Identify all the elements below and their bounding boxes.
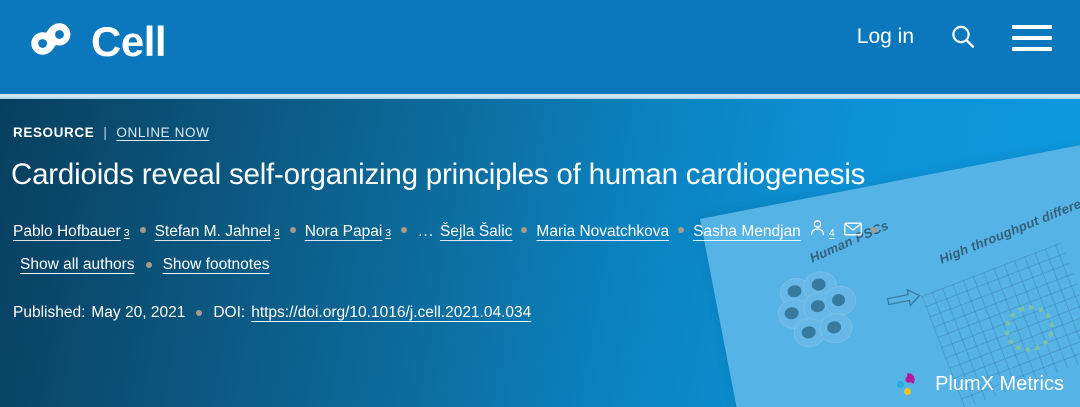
toggle-separator-dot: [146, 262, 152, 268]
author-separator-dot: [290, 227, 296, 233]
doi-label: DOI:: [213, 304, 245, 322]
author-affiliation-marker[interactable]: 3: [124, 226, 130, 242]
doi-link[interactable]: https://doi.org/10.1016/j.cell.2021.04.0…: [251, 304, 531, 322]
publication-info: Published: May 20, 2021 DOI: https://doi…: [13, 304, 531, 322]
hamburger-bar: [1012, 47, 1052, 51]
cell-loop-logo-icon: [28, 18, 78, 68]
plumx-flower-icon: [895, 370, 923, 398]
author-separator-dot: [871, 227, 877, 233]
show-all-authors-link[interactable]: Show all authors: [20, 256, 135, 274]
author-separator-dot: [521, 227, 527, 233]
published-label: Published:: [13, 304, 85, 322]
article-hero-page: Cell Log in Human PSCs High throughput d…: [0, 0, 1080, 407]
header-actions: Log in: [857, 22, 1052, 52]
envelope-icon[interactable]: [844, 222, 862, 236]
article-status-link[interactable]: ONLINE NOW: [116, 125, 209, 140]
author-link[interactable]: Pablo Hofbauer: [13, 220, 121, 243]
publication-separator-dot: [196, 310, 202, 316]
hamburger-menu-icon[interactable]: [1012, 23, 1052, 51]
kicker-divider: |: [103, 125, 107, 140]
author-separator-dot: [678, 227, 684, 233]
hamburger-bar: [1012, 36, 1052, 40]
author-link[interactable]: Šejla Šalic: [440, 220, 512, 243]
authors-ellipsis: ...: [418, 220, 434, 243]
author-link[interactable]: Sasha Mendjan: [693, 220, 801, 243]
cell-logo-link[interactable]: Cell: [28, 18, 166, 68]
search-icon[interactable]: [948, 22, 978, 52]
author-list: Pablo Hofbauer 3 Stefan M. Jahnel 3 Nora…: [13, 219, 973, 243]
author-affiliation-marker[interactable]: 3: [274, 226, 280, 242]
plumx-metrics-badge[interactable]: PlumX Metrics: [895, 370, 1064, 398]
show-footnotes-link[interactable]: Show footnotes: [163, 256, 270, 274]
author-separator-dot: [140, 227, 146, 233]
plumx-metrics-label: PlumX Metrics: [935, 373, 1064, 396]
author-separator-dot: [401, 227, 407, 233]
ga-arrow-icon: [886, 286, 923, 310]
author-link[interactable]: Maria Novatchkova: [536, 220, 669, 243]
corresponding-author-marker[interactable]: 4: [829, 226, 835, 242]
header-divider: [0, 94, 1080, 99]
person-icon[interactable]: [809, 219, 826, 236]
page-title: Cardioids reveal self-organizing princip…: [11, 157, 931, 192]
article-type-label: RESOURCE: [13, 125, 94, 140]
ga-cell-cluster-icon: [771, 265, 868, 354]
login-link[interactable]: Log in: [857, 25, 914, 49]
hamburger-bar: [1012, 25, 1052, 29]
article-kicker: RESOURCE | ONLINE NOW: [13, 125, 209, 140]
author-affiliation-marker[interactable]: 3: [385, 226, 391, 242]
author-link[interactable]: Nora Papai: [305, 220, 383, 243]
author-link[interactable]: Stefan M. Jahnel: [155, 220, 271, 243]
article-hero-banner: Human PSCs High throughput differentiati…: [0, 99, 1080, 407]
brand-wordmark: Cell: [91, 21, 166, 66]
site-header: Cell Log in: [0, 0, 1080, 94]
author-toggles: Show all authors Show footnotes: [20, 256, 269, 274]
published-date: May 20, 2021: [91, 304, 185, 322]
